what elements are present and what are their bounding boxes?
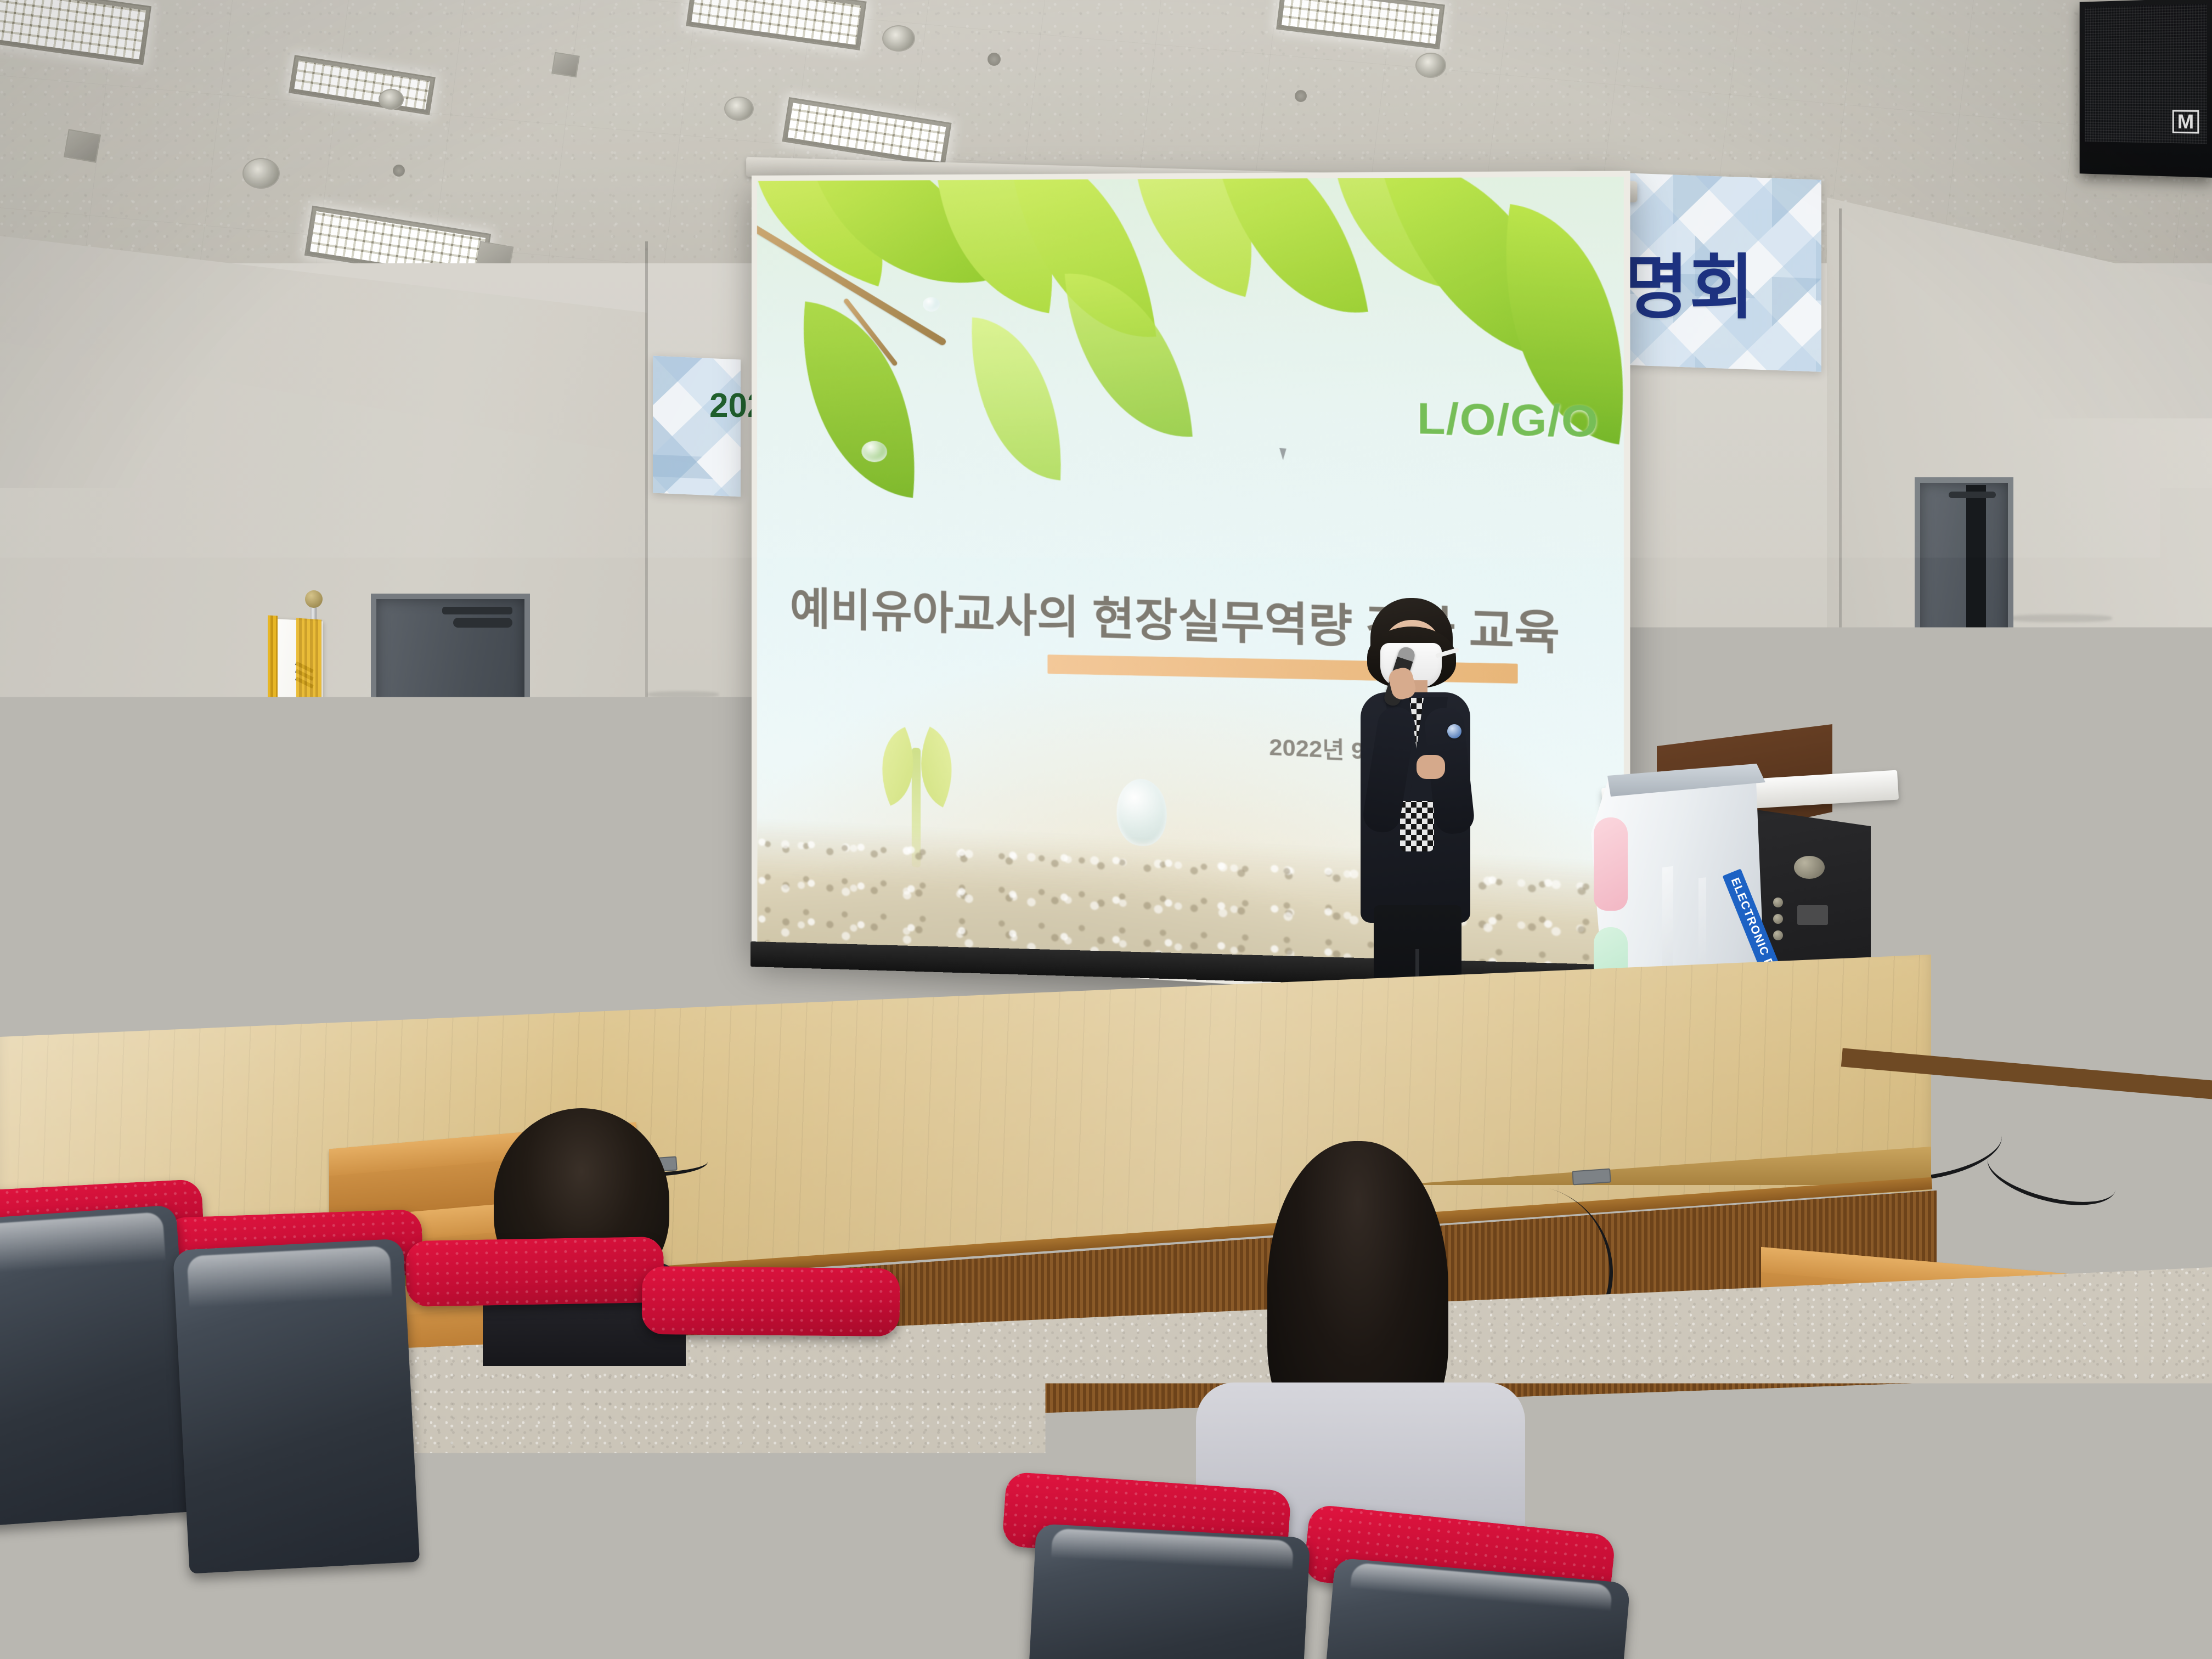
podium-led-icon — [1773, 930, 1783, 940]
podium-display-panel — [1797, 905, 1828, 925]
sprinkler-head-icon — [393, 165, 405, 177]
door-closer-body — [453, 618, 512, 628]
projection-screen: L/O/G/O 예비유아교사의 현장실무역량 강화 교육 2022년 9월 2 — [752, 171, 1630, 1008]
wall-banner-left — [653, 356, 741, 497]
recessed-downlight-icon — [242, 158, 280, 189]
pink-accessory — [1594, 817, 1628, 911]
ceiling-vent-icon — [64, 129, 101, 163]
table-foot — [634, 916, 647, 923]
podium-led-icon — [1773, 914, 1783, 924]
seat-back[interactable] — [655, 1306, 913, 1659]
podium-led-icon — [1773, 898, 1783, 907]
table-foot — [664, 913, 677, 919]
recessed-downlight-icon — [1415, 53, 1446, 78]
audience-member-foreground — [165, 1580, 346, 1659]
seat-back[interactable] — [416, 1270, 669, 1618]
recessed-downlight-icon — [724, 97, 754, 121]
door-opening-gap — [1966, 485, 1986, 1056]
recessed-downlight-icon — [379, 89, 404, 110]
auditorium-photo: 설명회 2022 M — [0, 0, 2212, 1659]
auditorium-seat[interactable] — [655, 1306, 913, 1659]
banner-pattern — [653, 356, 741, 497]
speaker-brand-logo: M — [2172, 110, 2199, 133]
auditorium-seat[interactable] — [0, 1205, 197, 1527]
auditorium-seat[interactable] — [1026, 1523, 1310, 1659]
slide-logo-placeholder: L/O/G/O — [1417, 393, 1599, 447]
wall-speaker: M — [2080, 0, 2212, 178]
sprinkler-head-icon — [988, 53, 1001, 66]
presenter-hand-right — [1417, 755, 1445, 779]
auditorium-seat[interactable] — [173, 1238, 420, 1573]
seat-back[interactable] — [173, 1238, 420, 1573]
lapel-pin-icon — [1447, 724, 1462, 738]
auditorium-seat[interactable] — [416, 1270, 669, 1618]
sprinkler-head-icon — [1295, 90, 1307, 102]
left-wall — [0, 236, 647, 1092]
table-leg — [344, 832, 353, 919]
door-knob-icon[interactable] — [388, 758, 403, 772]
recessed-downlight-icon — [882, 25, 915, 52]
flag-fringe-top — [296, 618, 321, 702]
floor-power-socket[interactable] — [1572, 1169, 1611, 1186]
seat-back[interactable] — [0, 1205, 197, 1527]
audience-hair — [165, 1580, 346, 1659]
flag-finial — [305, 590, 323, 608]
ceiling-vent-icon — [551, 52, 580, 78]
podium-dial-icon[interactable] — [1794, 856, 1825, 879]
door-closer-arm — [442, 607, 512, 614]
door-closer-arm — [1949, 492, 1996, 498]
seat-back[interactable] — [1026, 1523, 1310, 1659]
flag-fringe-left — [268, 616, 278, 874]
